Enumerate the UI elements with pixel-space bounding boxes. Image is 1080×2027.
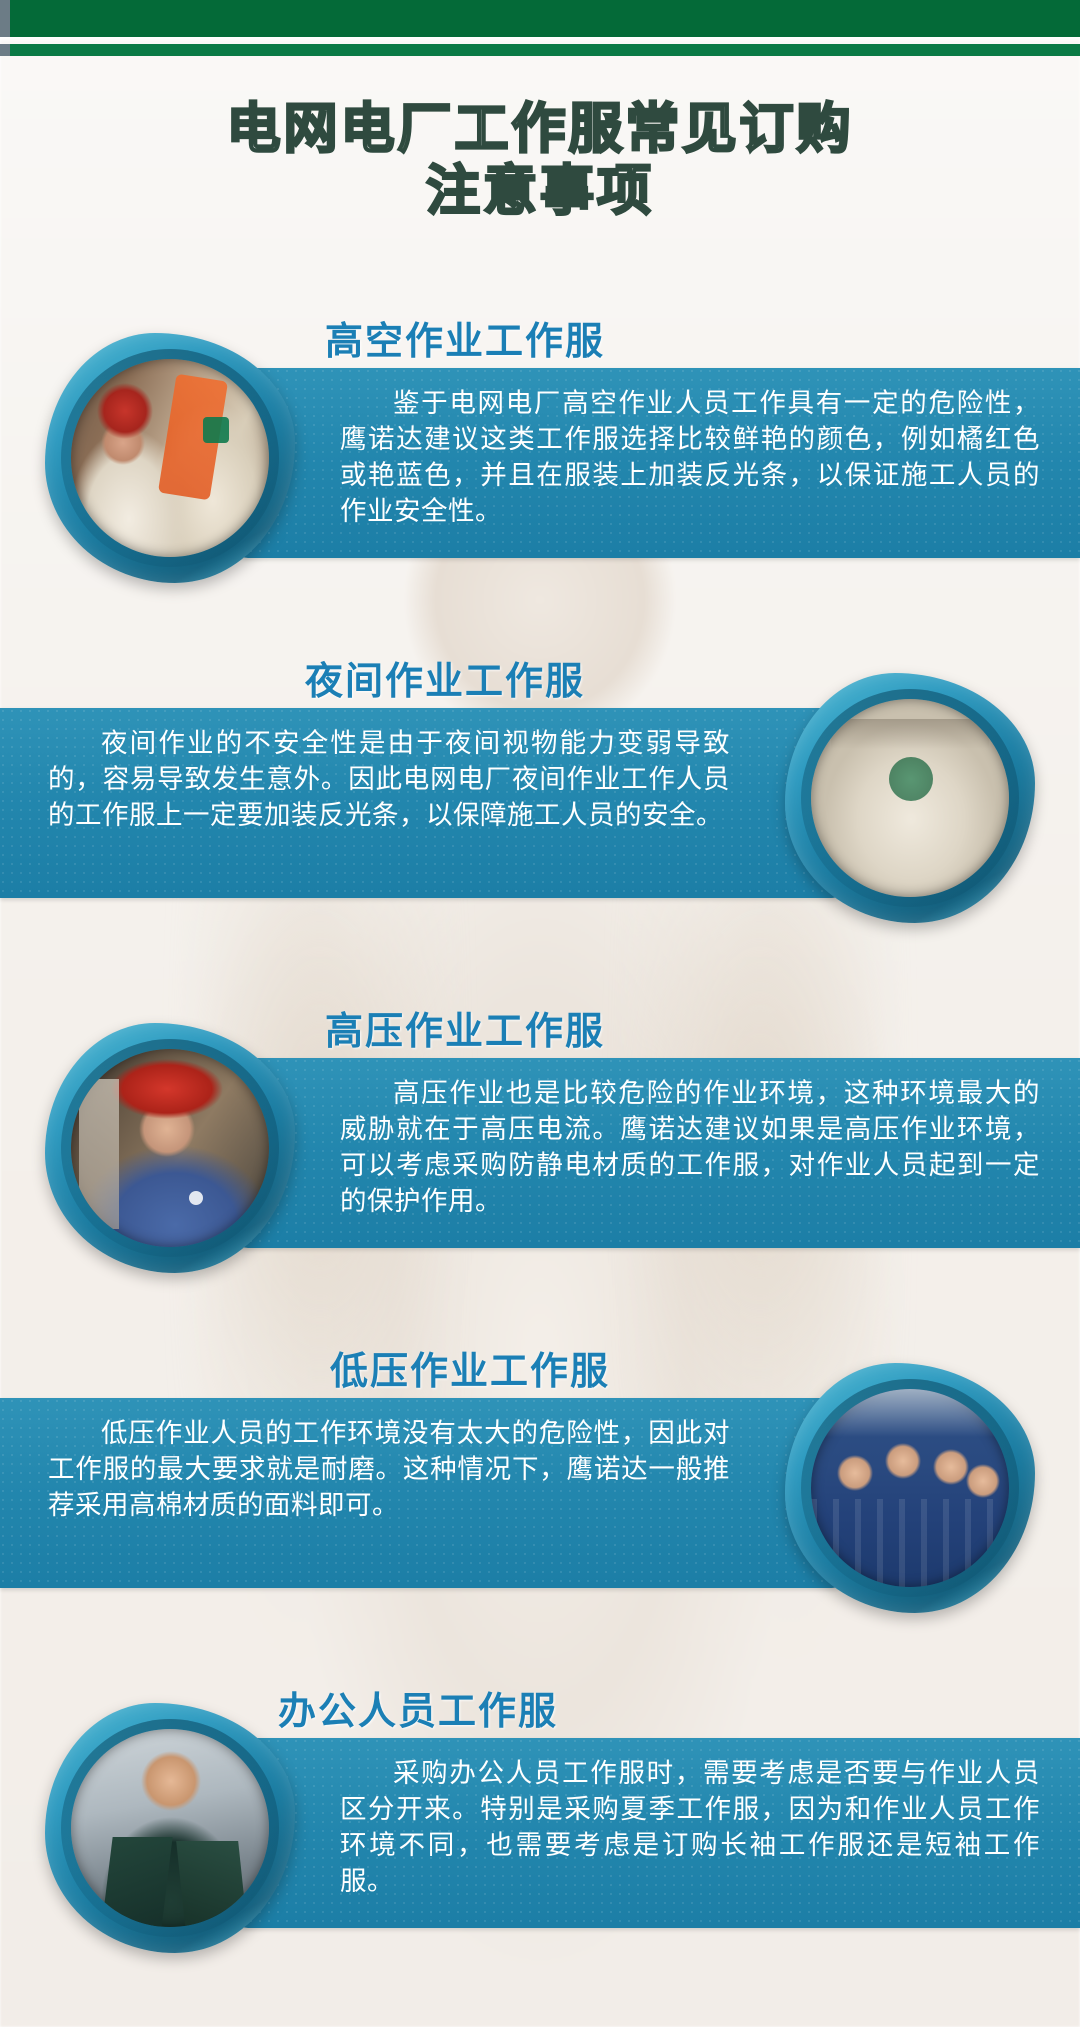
section-photo-night-work — [785, 673, 1035, 923]
page-title: 电网电厂工作服常见订购 注意事项 — [0, 98, 1080, 222]
section-body-night-work: 夜间作业的不安全性是由于夜间视物能力变弱导致的，容易导致发生意外。因此电网电厂夜… — [48, 726, 730, 834]
section-heading-low-voltage: 低压作业工作服 — [330, 1340, 610, 1395]
section-photo-high-altitude — [45, 333, 295, 583]
section-band-office-staff: 采购办公人员工作服时，需要考虑是否要与作业人员区分开来。特别是采购夏季工作服，因… — [230, 1738, 1080, 1928]
photo-image-night-work — [811, 699, 1009, 897]
photo-image-office-staff — [71, 1729, 269, 1927]
section-band-low-voltage: 低压作业人员的工作环境没有太大的危险性，因此对工作服的最大要求就是耐磨。这种情况… — [0, 1398, 850, 1588]
section-body-high-voltage: 高压作业也是比较危险的作业环境，这种环境最大的威胁就在于高压电流。鹰诺达建议如果… — [340, 1076, 1040, 1220]
header-green-bar-secondary — [0, 44, 1080, 56]
title-line-2: 注意事项 — [0, 160, 1080, 222]
infographic-poster: 电网电厂工作服常见订购 注意事项 国家电网 STATE GRID 高空作业工作服… — [0, 0, 1080, 2027]
photo-image-low-voltage — [811, 1389, 1009, 1587]
section-body-office-staff: 采购办公人员工作服时，需要考虑是否要与作业人员区分开来。特别是采购夏季工作服，因… — [340, 1756, 1040, 1900]
header-green-bar — [0, 0, 1080, 37]
section-band-high-voltage: 高压作业也是比较危险的作业环境，这种环境最大的威胁就在于高压电流。鹰诺达建议如果… — [230, 1058, 1080, 1248]
section-body-high-altitude: 鉴于电网电厂高空作业人员工作具有一定的危险性，鹰诺达建议这类工作服选择比较鲜艳的… — [340, 386, 1040, 530]
section-heading-night-work: 夜间作业工作服 — [305, 650, 585, 705]
section-band-high-altitude: 鉴于电网电厂高空作业人员工作具有一定的危险性，鹰诺达建议这类工作服选择比较鲜艳的… — [230, 368, 1080, 558]
section-heading-high-altitude: 高空作业工作服 — [325, 310, 605, 365]
section-body-low-voltage: 低压作业人员的工作环境没有太大的危险性，因此对工作服的最大要求就是耐磨。这种情况… — [48, 1416, 730, 1524]
photo-image-high-voltage — [71, 1049, 269, 1247]
section-photo-low-voltage — [785, 1363, 1035, 1613]
title-line-1: 电网电厂工作服常见订购 — [0, 98, 1080, 160]
section-heading-office-staff: 办公人员工作服 — [278, 1680, 558, 1735]
photo-image-high-altitude — [71, 359, 269, 557]
section-band-night-work: 夜间作业的不安全性是由于夜间视物能力变弱导致的，容易导致发生意外。因此电网电厂夜… — [0, 708, 850, 898]
section-photo-office-staff — [45, 1703, 295, 1953]
section-heading-high-voltage: 高压作业工作服 — [325, 1000, 605, 1055]
section-photo-high-voltage — [45, 1023, 295, 1273]
